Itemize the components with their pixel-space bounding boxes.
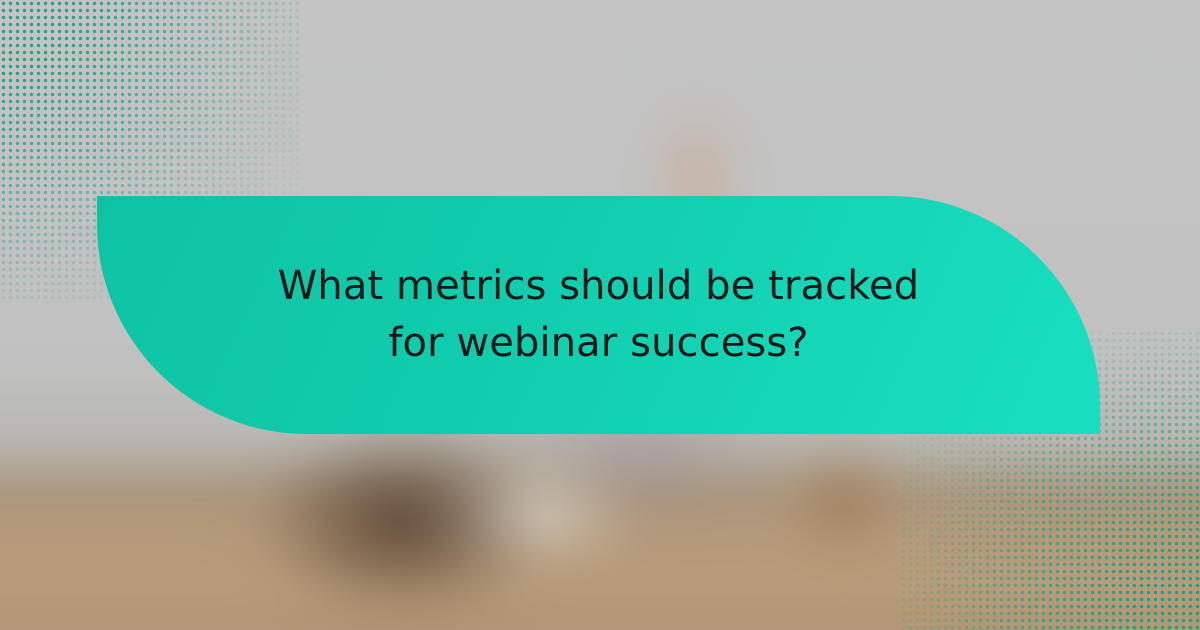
question-title: What metrics should be tracked for webin… <box>247 258 950 372</box>
question-banner: What metrics should be tracked for webin… <box>97 196 1100 434</box>
question-card: What metrics should be tracked for webin… <box>0 0 1200 630</box>
